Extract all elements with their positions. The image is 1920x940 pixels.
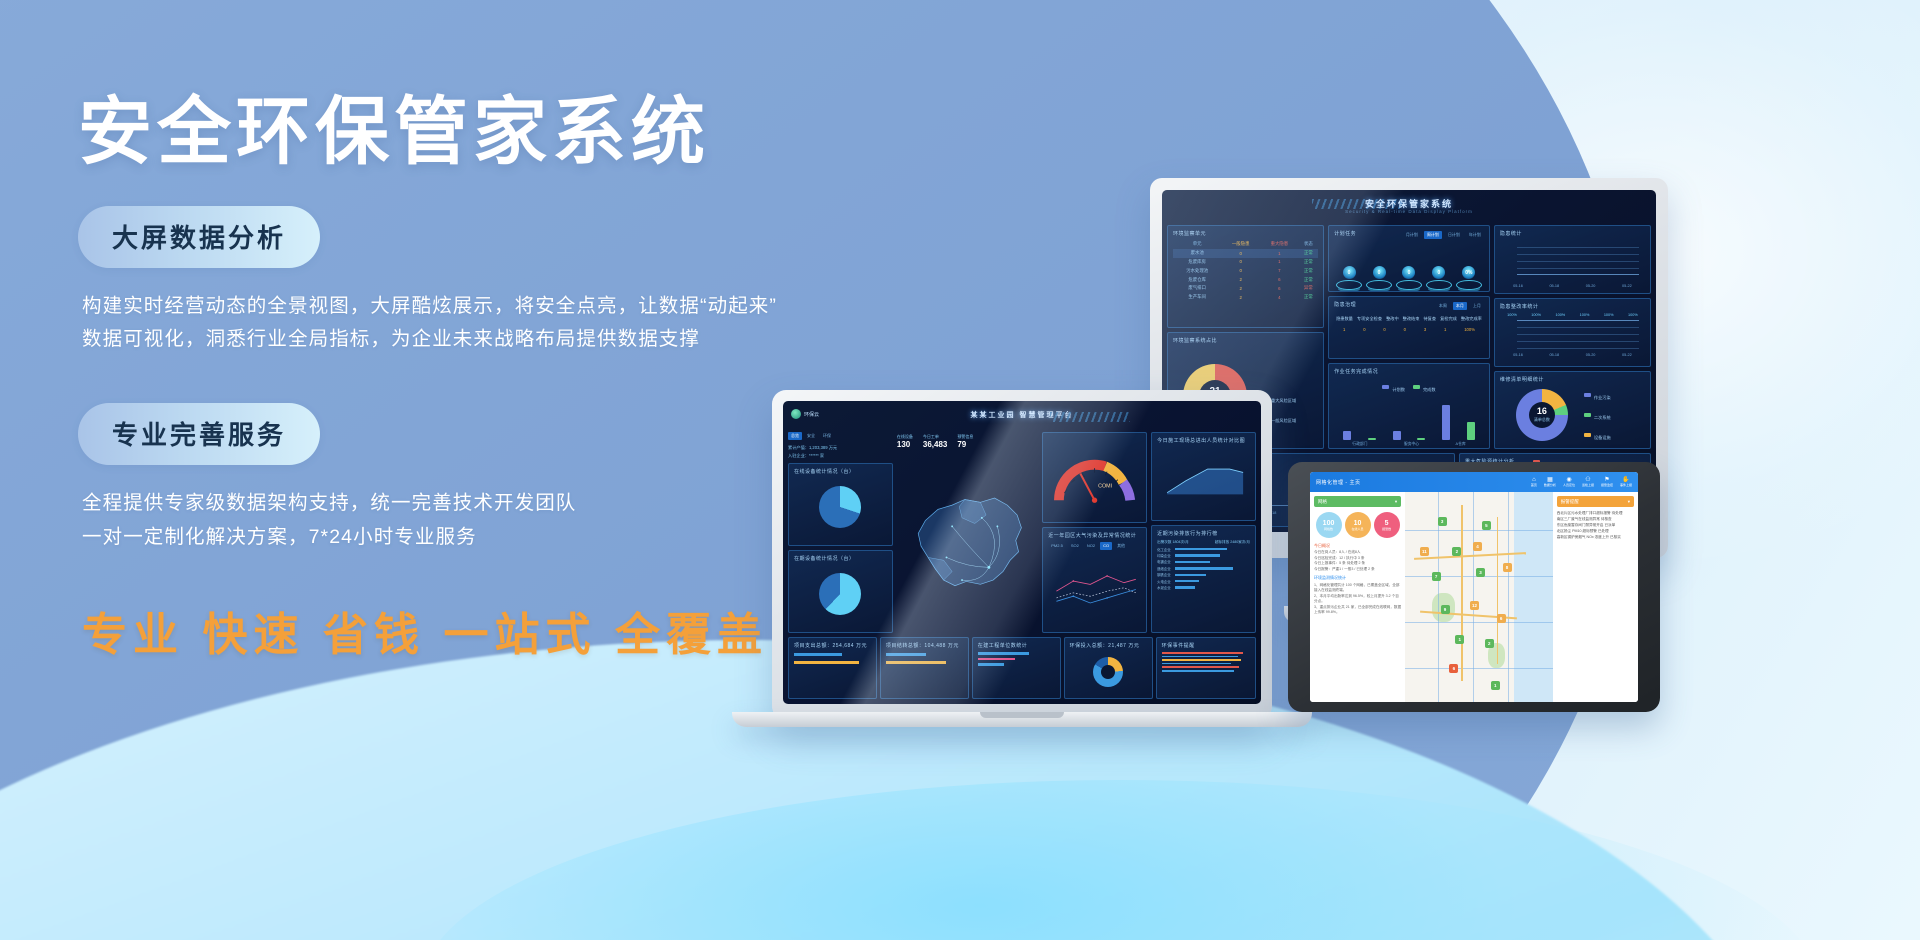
rectify-rate-plot <box>1500 317 1645 352</box>
card-project-carryover-title: 项目结转总额：104,488 万元 <box>886 642 963 649</box>
env-monitor-summary-title: 环境监测情况统计 <box>1314 575 1401 581</box>
map-marker[interactable]: 11 <box>1420 547 1429 556</box>
beacon-ledger: 0 台账管理 <box>1366 266 1392 292</box>
map-icon[interactable]: ◉人员定位 <box>1563 477 1575 487</box>
rank-right-label: 超标排放 2480家次/月 <box>1215 540 1250 545</box>
stat-label: 在线人员 <box>1352 527 1364 531</box>
badge-big-screen-analytics: 大屏数据分析 <box>78 206 320 268</box>
legend-swatch <box>1584 393 1591 397</box>
laptop-body: 总览 安全 环保 累计产值：1,203,389 万元 入驻企业：****** 家… <box>788 432 1256 633</box>
pie1-wrap <box>794 478 887 535</box>
kpi-value: 36,483 <box>923 440 947 449</box>
legend-label: 一般风险区域 <box>1271 418 1296 423</box>
pollution-tabs[interactable]: PM2.5 SO2 NO2 CO 其他 <box>1048 542 1141 550</box>
legend-swatch <box>1584 413 1591 417</box>
laptop-mid-col: COMI 近一年园区大气污染及异常情况统计 PM2.5 SO2 <box>1042 432 1147 633</box>
stat-val-2: 0 <box>1383 327 1385 332</box>
tablet-app-title: 网格化管理 - 主页 <box>1316 479 1360 486</box>
monitor-right-column: 隐患统计 <box>1494 225 1651 449</box>
card-project-carryover: 项目结转总额：104,488 万元 <box>880 637 969 699</box>
legend-item: 二次系统 <box>1584 406 1611 424</box>
stat-col-2: 整改中 <box>1386 316 1399 322</box>
monitor-middle-column: 计划任务 月计划 周计划 日计划 年计划 <box>1328 225 1490 449</box>
col-unit: 单元 <box>1173 240 1221 249</box>
beacon-value: 0 <box>1343 266 1356 279</box>
hand-icon[interactable]: ✋事件上报 <box>1620 477 1632 487</box>
env-monitor-line: 1、网格化管理共计 100 个网格，已覆盖全区域，全部接入在线监测终端。 <box>1314 583 1401 594</box>
stat-col-6: 整改完成率 <box>1461 316 1482 322</box>
cell-name: 污水处理池 <box>1173 266 1221 275</box>
rank-label: 造纸企业 <box>1157 566 1173 571</box>
donut-center-value: 16 <box>1537 407 1547 416</box>
card-site-people: 今日施工现场总进出人员统计对比图 <box>1151 432 1256 521</box>
legend-item: 计划数 <box>1382 378 1405 396</box>
card-task-completion: 作业任务完成情况 计划数 完成数 <box>1328 363 1490 449</box>
donut-center: 16 清单总数 <box>1529 402 1555 428</box>
bar-warehouse-plan <box>1442 405 1450 440</box>
beacon-emergency: 0 应急管理 <box>1336 266 1362 292</box>
toolbar-label: 人员定位 <box>1563 484 1575 487</box>
env-monitor-summary: 环境监测情况统计 1、网格化管理共计 100 个网格，已覆盖全区域，全部接入在线… <box>1314 575 1401 616</box>
cell-status: 异常 <box>1299 284 1318 293</box>
cell-major: 1 <box>1260 258 1299 267</box>
monitor-dashboard-subtitle: Security & Real-time Data Display Platfo… <box>1345 209 1473 214</box>
bar-admin-done <box>1368 438 1376 440</box>
tablet-alert-panel: 报警提醒 ▾ 西北片区污水处理厂排口超标报警 待处理 南区三厂废气在线监测异常 … <box>1553 492 1638 702</box>
tab-environment[interactable]: 环保 <box>820 432 834 440</box>
rank-row: 水泥企业 <box>1157 585 1250 590</box>
cell-status: 正常 <box>1299 266 1318 275</box>
legend-item: 完成数 <box>1413 378 1436 396</box>
table-row: 污水处理池 0 7 正常 <box>1173 266 1318 275</box>
leaf-logo-icon <box>791 409 801 419</box>
tick-3: 05-22 <box>1622 353 1632 357</box>
card-construction-units: 在建工程单位数统计 <box>972 637 1061 699</box>
env-monitor-line: 2、本月平均出勤率达到 96.5%，较上月提升 3.2 个百分点。 <box>1314 594 1401 605</box>
stat-label: 报警数 <box>1382 527 1391 531</box>
tablet-screen: 网格化管理 - 主页 ⌂首页 ▦数据分析 ◉人员定位 ⚇巡检上报 ⚑报警监控 ✋… <box>1310 472 1638 702</box>
card-construction-units-title: 在建工程单位数统计 <box>978 642 1055 649</box>
card-task-completion-title: 作业任务完成情况 <box>1334 368 1484 375</box>
rectify-rate-ticks: 05-16 05-18 05-20 05-22 <box>1500 353 1645 357</box>
map-marker[interactable]: 12 <box>1470 601 1479 610</box>
beacon-label: 隐患排查 <box>1431 291 1447 292</box>
tick-3: A仓库 <box>1456 442 1466 447</box>
region-select-value: 网格 <box>1318 499 1327 505</box>
beacon-label: 台账管理 <box>1371 291 1387 292</box>
rank-row: 电镀企业 <box>1157 559 1250 564</box>
toolbar-label: 数据分析 <box>1544 484 1556 487</box>
card-pollution-lines: 近一年园区大气污染及异常情况统计 PM2.5 SO2 NO2 CO 其他 <box>1042 527 1147 633</box>
pie2-wrap <box>794 565 887 622</box>
tab-other[interactable]: 其他 <box>1114 542 1128 550</box>
toolbar-label: 首页 <box>1531 484 1537 487</box>
feature-block-analytics: 大屏数据分析 构建实时经营动态的全景视图，大屏酷炫展示，将安全点亮，让数据“动起… <box>78 206 958 357</box>
tab-so2[interactable]: SO2 <box>1068 542 1082 550</box>
hazard-governance-header: 隐患治理 本周 本月 上月 <box>1334 301 1484 311</box>
tablet-map[interactable]: 3 5 11 2 4 7 3 8 12 9 6 <box>1405 492 1553 702</box>
cell-major: 6 <box>1260 275 1299 284</box>
beacon-label: 环保合规率 <box>1459 291 1479 292</box>
legend-label: 设备设施 <box>1594 435 1611 440</box>
site-people-area-chart <box>1157 447 1250 510</box>
legend-item: 设备设施 <box>1584 426 1611 444</box>
card-pollution-rank: 近期污染排放行为排行榜 出警次数 1804次/月 超标排放 2480家次/月 化… <box>1151 525 1256 633</box>
map-marker[interactable]: 6 <box>1497 614 1506 623</box>
beacon-label: 应急管理 <box>1341 291 1357 292</box>
rank-left-label: 出警次数 1804次/月 <box>1157 540 1189 545</box>
beacon-compliance: 0% 环保合规率 <box>1456 266 1482 292</box>
badge-professional-service: 专业完善服务 <box>78 403 320 465</box>
legend-item: 作业污染 <box>1584 386 1611 404</box>
stat-value: 5 <box>1385 520 1389 527</box>
tab-safety[interactable]: 安全 <box>804 432 818 440</box>
tab-pm25[interactable]: PM2.5 <box>1048 542 1066 550</box>
laptop-map-col: 在线设备 130 今日工单 36,483 预警信息 <box>897 432 1038 633</box>
card-env-units: 环境监察单元 单元 一般隐患 重大隐患 状态 <box>1167 225 1324 328</box>
china-map-svg <box>897 455 1038 633</box>
card-gauge: COMI <box>1042 432 1147 523</box>
page-title: 安全环保管家系统 <box>78 92 958 172</box>
card-hazard-governance: 隐患治理 本周 本月 上月 隐患数量 <box>1328 296 1490 359</box>
bar-admin-plan <box>1343 431 1351 440</box>
beacon-value: 0 <box>1373 266 1386 279</box>
rank-row: 钢铁企业 <box>1157 572 1250 577</box>
pie-chart-online-devices <box>819 486 861 528</box>
card-planned-tasks: 计划任务 月计划 周计划 日计划 年计划 <box>1328 225 1490 292</box>
stat-online: 10 在线人员 <box>1345 512 1371 538</box>
rank-bars: 化工企业 印染企业 电镀企业 造纸企业 钢铁企业 火电企业 水泥企业 <box>1157 547 1250 590</box>
cell-status: 正常 <box>1299 258 1318 267</box>
alert-list: 西北片区污水处理厂排口超标报警 待处理 南区三厂废气在线监测异常 待核查 东区危… <box>1557 510 1634 541</box>
map-marker[interactable]: 3 <box>1438 517 1447 526</box>
beacon-value: 0 <box>1402 266 1415 279</box>
order-donut-chart: 16 清单总数 <box>1516 389 1568 441</box>
hero-banner: 安全环保管家系统 大屏数据分析 构建实时经营动态的全景视图，大屏酷炫展示，将安全… <box>0 0 1920 940</box>
laptop-notch <box>980 712 1064 718</box>
table-row: 废气排口 2 6 异常 <box>1173 284 1318 293</box>
today-summary-line: 今日报警：严重1 / 一般3 / 已处理 2 条 <box>1314 567 1401 573</box>
rank-row: 印染企业 <box>1157 553 1250 558</box>
tab-overview[interactable]: 总览 <box>788 432 802 440</box>
cell-major: 6 <box>1260 284 1299 293</box>
toolbar-label: 报警监控 <box>1601 484 1613 487</box>
tablet-toolbar-icons[interactable]: ⌂首页 ▦数据分析 ◉人员定位 ⚇巡检上报 ⚑报警监控 ✋事件上报 <box>1531 477 1632 487</box>
cell-minor: 2 <box>1221 275 1260 284</box>
table-row: 废水池 0 1 正常 <box>1173 249 1318 258</box>
legend-swatch <box>1382 385 1389 389</box>
chevron-down-icon: ▾ <box>1628 499 1630 505</box>
tab-this-month[interactable]: 本月 <box>1453 302 1467 310</box>
construction-bars <box>978 652 1055 666</box>
rank-label: 印染企业 <box>1157 553 1173 558</box>
paragraph-analytics-line-2: 数据可视化，洞悉行业全局指标，为企业未来战略布局提供数据支撑 <box>82 323 958 357</box>
beacon-inspection: 0 隐患排查 <box>1426 266 1452 292</box>
stat-val-0: 1 <box>1343 327 1345 332</box>
kpi-alerts: 预警信息 79 <box>957 434 973 449</box>
cell-minor: 2 <box>1221 284 1260 293</box>
paragraph-analytics: 构建实时经营动态的全景视图，大屏酷炫展示，将安全点亮，让数据“动起来” 数据可视… <box>82 290 958 357</box>
card-order-donut-title: 维修清单明细统计 <box>1500 376 1645 383</box>
hazard-stats-plot <box>1500 240 1645 283</box>
table-row: 生产车间 2 4 正常 <box>1173 293 1318 302</box>
cell-major: 1 <box>1260 249 1299 258</box>
planned-tasks-beacons: 0 应急管理 0 台账管理 <box>1334 240 1484 292</box>
laptop-right-col: 今日施工现场总进出人员统计对比图 近期污染排放行为排行榜 <box>1151 432 1256 633</box>
env-investment-donut <box>1093 657 1123 687</box>
beacon-value: 0% <box>1462 266 1475 279</box>
legend-label: 计划数 <box>1392 387 1405 392</box>
bar-service-done <box>1417 438 1425 440</box>
side-value-1: 入驻企业：****** 家 <box>788 452 893 460</box>
tab-last-month[interactable]: 上月 <box>1470 302 1484 310</box>
laptop-brand-label: 环保云 <box>804 411 819 418</box>
tab-year-plan[interactable]: 年计划 <box>1466 231 1484 239</box>
map-marker[interactable]: 8 <box>1503 563 1512 572</box>
tick-0: 05-16 <box>1513 284 1523 288</box>
bar-warehouse-done <box>1467 422 1475 440</box>
laptop-kpis: 在线设备 130 今日工单 36,483 预警信息 <box>897 432 1038 451</box>
beacon-ring <box>1366 280 1392 290</box>
stat-val-3: 0 <box>1404 327 1406 332</box>
laptop-header: 环保云 某某工业园 智慧管理平台 <box>788 406 1256 428</box>
card-planned-tasks-title: 计划任务 <box>1334 230 1356 237</box>
beacon-label: 风险管控 <box>1401 291 1417 292</box>
expense-bars <box>794 653 871 664</box>
gauge-value: COMI <box>1098 483 1112 489</box>
card-hazard-stats: 隐患统计 <box>1494 225 1651 294</box>
today-summary: 今日概况 今日在岗人员：8人 / 在线8人 今日巡检完成：12 / 执行中 3 … <box>1314 543 1401 572</box>
tab-this-week[interactable]: 本周 <box>1436 302 1450 310</box>
monitor-dashboard-header: 安全环保管家系统 Security & Real-time Data Displ… <box>1167 195 1651 221</box>
laptop: 环保云 某某工业园 智慧管理平台 总览 安全 环保 <box>772 390 1272 720</box>
map-marker[interactable]: 4 <box>1473 542 1482 551</box>
map-marker[interactable]: 2 <box>1452 547 1461 556</box>
laptop-bottom-strip: 项目支出总额：254,684 万元 项目结转总额：104,488 万元 <box>788 637 1256 699</box>
cell-minor: 0 <box>1221 258 1260 267</box>
rank-row: 化工企业 <box>1157 547 1250 552</box>
planned-tasks-tabs[interactable]: 月计划 周计划 日计划 年计划 <box>1403 231 1484 239</box>
tick-1: 05-18 <box>1549 284 1559 288</box>
legend-label: 重大风险区域 <box>1271 398 1296 403</box>
card-hazard-governance-title: 隐患治理 <box>1334 301 1356 308</box>
beacon-ring <box>1396 280 1422 290</box>
beacon-risk: 0 风险管控 <box>1396 266 1422 292</box>
card-hazard-donut-title: 环境监察系统占比 <box>1173 337 1318 344</box>
cell-major: 4 <box>1260 293 1299 302</box>
legend-swatch <box>1584 433 1591 437</box>
table-row: 危废仓库 2 6 正常 <box>1173 275 1318 284</box>
stat-val-5: 1 <box>1444 327 1446 332</box>
env-events-list <box>1162 652 1250 672</box>
toolbar-label: 事件上报 <box>1620 484 1632 487</box>
hazard-governance-values: 1 0 0 0 3 1 100% <box>1334 327 1484 332</box>
env-units-table: 单元 一般隐患 重大隐患 状态 废水池 0 1 <box>1173 240 1318 301</box>
card-hazard-stats-title: 隐患统计 <box>1500 230 1645 237</box>
map-marker[interactable]: 9 <box>1441 605 1450 614</box>
cell-minor: 2 <box>1221 293 1260 302</box>
laptop-side-values: 累计产值：1,203,389 万元 入驻企业：****** 家 <box>788 444 893 459</box>
legend-label: 完成数 <box>1423 387 1436 392</box>
kpi-online-devices: 在线设备 130 <box>897 434 913 449</box>
legend-label: 作业污染 <box>1594 395 1611 400</box>
rank-label: 化工企业 <box>1157 547 1173 552</box>
map-marker[interactable]: 3 <box>1476 568 1485 577</box>
gauge-wrap: COMI <box>1048 437 1141 518</box>
task-completion-ticks: 行政部门 服务中心 A仓库 <box>1334 442 1484 447</box>
tablet: 网格化管理 - 主页 ⌂首页 ▦数据分析 ◉人员定位 ⚇巡检上报 ⚑报警监控 ✋… <box>1288 462 1660 712</box>
card-env-events-title: 环保事件提醒 <box>1162 642 1250 649</box>
stat-col-5: 复检完成 <box>1440 316 1457 322</box>
card-online-devices-pie: 在线设备统计情况（台） <box>788 463 893 546</box>
hazard-stats-line <box>1500 240 1645 283</box>
beacon-value: 0 <box>1432 266 1445 279</box>
legend-swatch <box>1413 385 1420 389</box>
stat-label: 网格数 <box>1324 527 1333 531</box>
card-rectify-rate-title: 隐患整改率统计 <box>1500 303 1645 310</box>
hazard-governance-columns: 隐患数量 专项安全检查 整改中 整改结束 待复查 复检完成 整改完成率 <box>1334 316 1484 322</box>
alert-item[interactable]: 高新区锅炉房烟气 NOx 浓度上升 已核实 <box>1557 534 1634 540</box>
map-marker[interactable]: 6 <box>1449 664 1458 673</box>
stat-col-3: 整改结束 <box>1403 316 1420 322</box>
person-icon[interactable]: ⚇巡检上报 <box>1582 477 1594 487</box>
cell-minor: 0 <box>1221 249 1260 258</box>
tab-no2[interactable]: NO2 <box>1084 542 1098 550</box>
card-inperiod-devices-pie-title: 在期设备统计情况（台） <box>794 555 887 562</box>
device-mockups: 安全环保管家系统 Security & Real-time Data Displ… <box>900 160 1920 860</box>
laptop-left-col: 总览 安全 环保 累计产值：1,203,389 万元 入驻企业：****** 家… <box>788 432 893 633</box>
hazard-stats-ticks: 05-16 05-18 05-20 05-22 <box>1500 284 1645 288</box>
kpi-value: 130 <box>897 440 913 449</box>
bar-service-plan <box>1393 431 1401 440</box>
card-site-people-title: 今日施工现场总进出人员统计对比图 <box>1157 437 1250 444</box>
map-marker[interactable]: 5 <box>1482 521 1491 530</box>
laptop-brand: 环保云 <box>791 409 819 419</box>
gauge-chart: COMI <box>1050 439 1139 517</box>
stat-value: 100 <box>1323 520 1335 527</box>
col-major: 重大隐患 <box>1260 240 1299 249</box>
laptop-lid: 环保云 某某工业园 智慧管理平台 总览 安全 环保 <box>772 390 1272 720</box>
beacon-ring <box>1456 280 1482 290</box>
cell-minor: 0 <box>1221 266 1260 275</box>
card-env-units-title: 环境监察单元 <box>1173 230 1318 237</box>
tick-3: 05-22 <box>1622 284 1632 288</box>
chart-icon[interactable]: ▦数据分析 <box>1544 477 1556 487</box>
alert-header[interactable]: 报警提醒 ▾ <box>1557 496 1634 507</box>
card-project-expense: 项目支出总额：254,684 万元 <box>788 637 877 699</box>
env-monitor-line: 3、重点排污企业共 21 家，已全部完成在线联网，数据上传率 99.8%。 <box>1314 605 1401 616</box>
card-pollution-lines-title: 近一年园区大气污染及异常情况统计 <box>1048 532 1141 539</box>
tab-day-plan[interactable]: 日计划 <box>1445 231 1463 239</box>
kpi-value: 79 <box>957 440 973 449</box>
stat-value: 10 <box>1354 520 1362 527</box>
toolbar-label: 巡检上报 <box>1582 484 1594 487</box>
col-status: 状态 <box>1299 240 1318 249</box>
cell-status: 正常 <box>1299 293 1318 302</box>
tablet-body: 网格 ▾ 100 网格数 10 <box>1310 492 1638 702</box>
region-select[interactable]: 网格 ▾ <box>1314 496 1401 507</box>
laptop-dashboard: 环保云 某某工业园 智慧管理平台 总览 安全 环保 <box>783 401 1261 704</box>
carryover-bars <box>886 653 963 664</box>
card-rectify-rate: 隐患整改率统计 100% 100% 100% 100% 100% 100% <box>1494 298 1651 367</box>
tick-1: 服务中心 <box>1404 442 1419 447</box>
tablet-toolbar: 网格化管理 - 主页 ⌂首页 ▦数据分析 ◉人员定位 ⚇巡检上报 ⚑报警监控 ✋… <box>1310 472 1638 492</box>
env-investment-donut-wrap <box>1070 652 1147 692</box>
home-icon[interactable]: ⌂首页 <box>1531 477 1537 487</box>
task-completion-legend: 计划数 完成数 <box>1334 378 1484 396</box>
tick-2: 05-20 <box>1586 284 1596 288</box>
map-marker[interactable]: 2 <box>1485 639 1494 648</box>
laptop-screen: 环保云 某某工业园 智慧管理平台 总览 安全 环保 <box>783 401 1261 704</box>
planned-tasks-header: 计划任务 月计划 周计划 日计划 年计划 <box>1334 230 1484 240</box>
table-row: 危废库房 0 1 正常 <box>1173 258 1318 267</box>
map-marker[interactable]: 1 <box>1491 681 1500 690</box>
rank-row: 造纸企业 <box>1157 566 1250 571</box>
tick-0: 05-16 <box>1513 353 1523 357</box>
cell-major: 7 <box>1260 266 1299 275</box>
side-value-0: 累计产值：1,203,389 万元 <box>788 444 893 452</box>
cell-status: 正常 <box>1299 249 1318 258</box>
rank-label: 水泥企业 <box>1157 585 1173 590</box>
rank-label: 火电企业 <box>1157 579 1173 584</box>
rank-label: 钢铁企业 <box>1157 572 1173 577</box>
card-order-donut: 维修清单明细统计 16 清单总数 <box>1494 371 1651 449</box>
col-minor: 一般隐患 <box>1221 240 1260 249</box>
donut-center-label: 清单总数 <box>1534 417 1550 423</box>
tick-0: 行政部门 <box>1352 442 1367 447</box>
card-env-investment-title: 环保投入总额：21,487 万元 <box>1070 642 1147 649</box>
stat-col-0: 隐患数量 <box>1336 316 1353 322</box>
chevron-down-icon: ▾ <box>1395 499 1397 505</box>
tab-week-plan[interactable]: 周计划 <box>1424 231 1442 239</box>
tablet-sidebar: 网格 ▾ 100 网格数 10 <box>1310 492 1405 702</box>
rank-row: 火电企业 <box>1157 579 1250 584</box>
stat-col-1: 专项安全检查 <box>1357 316 1382 322</box>
cell-status: 正常 <box>1299 275 1318 284</box>
map-marker[interactable]: 1 <box>1455 635 1464 644</box>
stat-circles: 100 网格数 10 在线人员 5 报警数 <box>1314 510 1401 540</box>
card-env-investment: 环保投入总额：21,487 万元 <box>1064 637 1153 699</box>
card-project-expense-title: 项目支出总额：254,684 万元 <box>794 642 871 649</box>
tab-month-plan[interactable]: 月计划 <box>1403 231 1421 239</box>
legend-label: 二次系统 <box>1594 415 1611 420</box>
card-online-devices-pie-title: 在线设备统计情况（台） <box>794 468 887 475</box>
task-completion-bars <box>1334 396 1484 446</box>
hazard-governance-tabs[interactable]: 本周 本月 上月 <box>1436 302 1484 310</box>
stat-val-6: 100% <box>1464 327 1475 332</box>
rank-label: 电镀企业 <box>1157 559 1173 564</box>
pie-chart-inperiod-devices <box>819 573 861 615</box>
card-pollution-rank-title: 近期污染排放行为排行榜 <box>1157 530 1250 537</box>
tick-2: 05-20 <box>1586 353 1596 357</box>
cell-name: 废水池 <box>1173 249 1221 258</box>
kpi-today-orders: 今日工单 36,483 <box>923 434 947 449</box>
order-donut-legend: 作业污染 二次系统 设备设施 <box>1584 386 1611 444</box>
stat-alarms: 5 报警数 <box>1374 512 1400 538</box>
stat-val-1: 0 <box>1363 327 1365 332</box>
alarm-icon[interactable]: ⚑报警监控 <box>1601 477 1613 487</box>
stat-val-4: 3 <box>1424 327 1426 332</box>
map-marker[interactable]: 7 <box>1432 572 1441 581</box>
today-summary-title: 今日概况 <box>1314 543 1401 549</box>
pollution-line-chart <box>1048 550 1141 624</box>
laptop-tabs[interactable]: 总览 安全 环保 <box>788 432 893 440</box>
tab-co[interactable]: CO <box>1100 542 1112 550</box>
card-inperiod-devices-pie: 在期设备统计情况（台） <box>788 550 893 633</box>
order-donut-wrap: 16 清单总数 作业污染 二次系统 设备设施 <box>1500 386 1645 444</box>
cell-name: 危废库房 <box>1173 258 1221 267</box>
china-map <box>897 455 1038 633</box>
